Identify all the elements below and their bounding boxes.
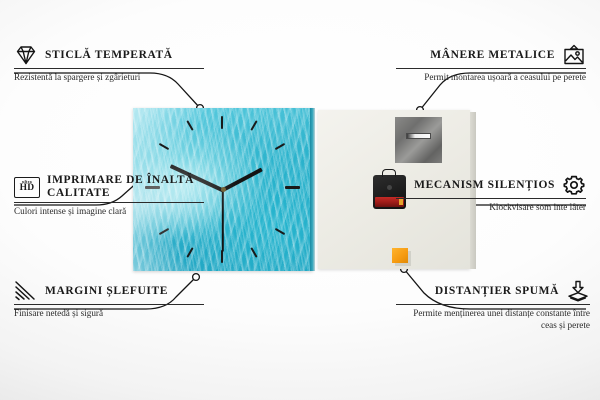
callout-silent-mechanism: MECANISM SILENȚIOS Klockvisare som inte …: [396, 174, 586, 214]
infographic-stage: STICLĂ TEMPERATĂ Rezistentă la spargere …: [0, 0, 600, 400]
metal-hanger-part: [395, 117, 442, 163]
callout-desc: Finisare netedă și sigură: [14, 305, 204, 320]
gear-icon: [562, 174, 586, 196]
ultra-hd-icon: ultra HD: [14, 177, 40, 198]
clock-center-cap: [221, 187, 226, 192]
callout-title: MÂNERE METALICE: [430, 49, 555, 62]
callout-title: IMPRIMARE DE ÎNALTĂ CALITATE: [47, 174, 204, 200]
callout-desc: Culori intense și imagine clară: [14, 203, 204, 218]
callout-desc: Permite menținerea unei distanțe constan…: [396, 305, 590, 331]
callout-title: STICLĂ TEMPERATĂ: [45, 49, 173, 62]
clock-second-hand: [222, 190, 224, 252]
callout-title: MECANISM SILENȚIOS: [414, 179, 555, 192]
callout-title: DISTANȚIER SPUMĂ: [435, 285, 559, 298]
glass-edge: [310, 108, 315, 271]
hanger-slot: [406, 133, 431, 139]
callout-desc: Klockvisare som inte låter: [396, 199, 586, 214]
polished-edge-icon: [14, 280, 38, 302]
ultra-hd-icon-main-label: HD: [20, 184, 35, 194]
diamond-icon: [14, 44, 38, 66]
callout-high-quality-print: ultra HD IMPRIMARE DE ÎNALTĂ CALITATE Cu…: [14, 174, 204, 218]
callout-desc: Rezistentă la spargere și zgârieturi: [14, 69, 204, 84]
callout-foam-spacer: DISTANȚIER SPUMĂ Permite menținerea unei…: [396, 280, 590, 331]
mechanism-hook: [382, 169, 396, 177]
callout-desc: Permit montarea ușoară a ceasului pe per…: [396, 69, 586, 84]
callout-title: MARGINI ȘLEFUITE: [45, 285, 168, 298]
foam-spacer-icon: [566, 280, 590, 302]
picture-hanger-icon: [562, 44, 586, 66]
foam-spacer-part: [392, 248, 408, 263]
callout-polished-edges: MARGINI ȘLEFUITE Finisare netedă și sigu…: [14, 280, 204, 320]
callout-metal-handles: MÂNERE METALICE Permit montarea ușoară a…: [396, 44, 586, 84]
callout-tempered-glass: STICLĂ TEMPERATĂ Rezistentă la spargere …: [14, 44, 204, 84]
clock-hour-hand: [222, 168, 263, 192]
mechanism-shaft: [387, 185, 392, 190]
